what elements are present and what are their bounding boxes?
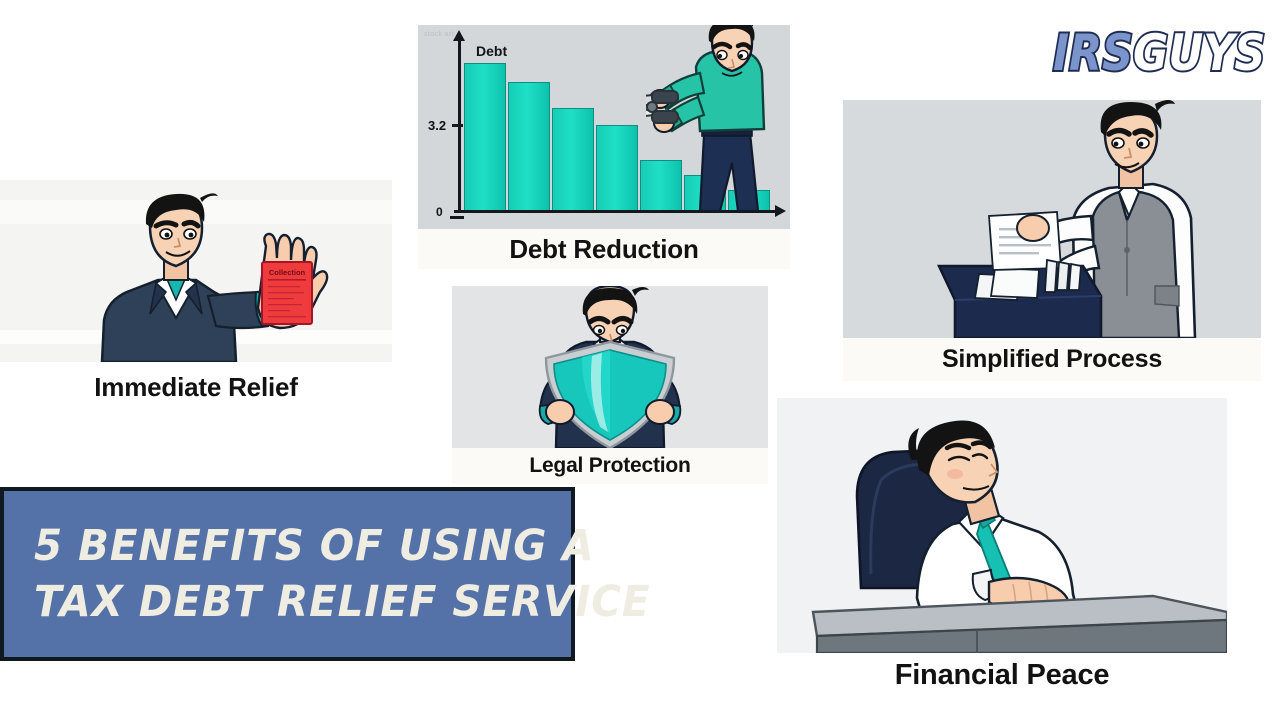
chart-bar: [508, 82, 550, 210]
chart-tick-3-2: [452, 124, 463, 127]
benefit-card-financial-peace: stock art: [777, 398, 1227, 698]
legal-protection-artwork: stock art: [452, 286, 768, 448]
simplified-process-artwork: stock art: [843, 100, 1261, 338]
chart-bar: [464, 63, 506, 210]
banner-line-2: TAX DEBT RELIEF SERVICE: [34, 574, 539, 630]
man-cutting-debt-illustration: [646, 25, 790, 213]
benefit-card-legal-protection: stock art: [452, 286, 768, 484]
title-banner: 5 BENEFITS OF USING A TAX DEBT RELIEF SE…: [0, 487, 575, 661]
infographic-canvas: IRSGUYS stock art: [0, 0, 1280, 720]
chart-tick-0: [450, 216, 464, 219]
chart-bar: [596, 125, 638, 210]
man-organizing-files-illustration: [843, 100, 1261, 338]
financial-peace-artwork: stock art: [777, 398, 1227, 653]
logo-wordmark: IRSGUYS: [1053, 22, 1249, 84]
debt-reduction-artwork: stock art 0 3.2 Debt: [418, 25, 790, 229]
irsguys-logo[interactable]: IRSGUYS: [1037, 18, 1265, 90]
benefit-card-immediate-relief: stock art: [0, 180, 392, 412]
immediate-relief-artwork: stock art: [0, 180, 392, 362]
banner-line-1: 5 BENEFITS OF USING A: [34, 518, 539, 574]
chart-bar: [552, 108, 594, 210]
logo-text-irs: IRS: [1053, 24, 1133, 82]
man-with-shield-illustration: [452, 286, 768, 448]
caption-simplified-process: Simplified Process: [843, 338, 1261, 381]
chart-ytick-label-0: 0: [436, 205, 443, 219]
logo-text-guys: GUYS: [1133, 24, 1265, 82]
relaxed-man-at-desk-illustration: [777, 398, 1227, 653]
benefit-card-debt-reduction: stock art 0 3.2 Debt: [418, 25, 790, 269]
benefit-card-simplified-process: stock art: [843, 100, 1261, 381]
svg-text:Collection: Collection: [269, 268, 306, 277]
caption-debt-reduction: Debt Reduction: [418, 229, 790, 269]
caption-financial-peace: Financial Peace: [777, 653, 1227, 698]
caption-legal-protection: Legal Protection: [452, 448, 768, 484]
man-stop-hand-illustration: Collection: [0, 180, 392, 362]
caption-immediate-relief: Immediate Relief: [0, 362, 392, 412]
chart-ytick-label-3-2: 3.2: [428, 118, 446, 133]
